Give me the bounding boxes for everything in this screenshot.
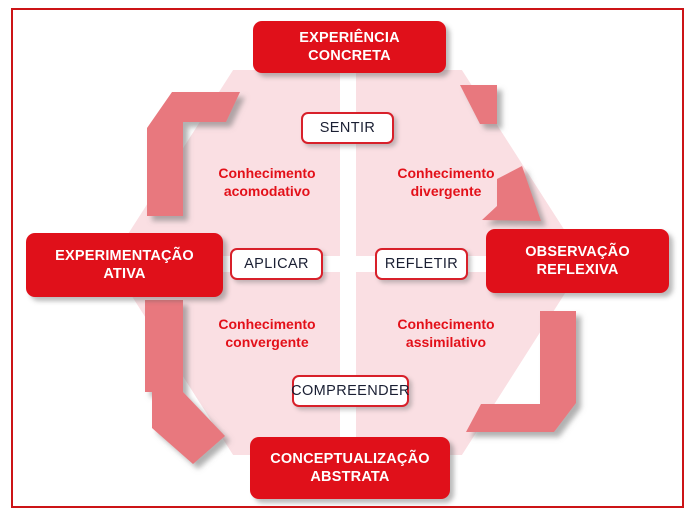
stage-box-conceptualizacao-abstrata[interactable]: CONCEPTUALIZAÇÃO ABSTRATA [250,437,450,499]
stage-label-reflective-line2: REFLEXIVA [536,262,618,278]
knowledge-assimilativo-line2: assimilativo [406,334,486,350]
verb-label-aplicar: APLICAR [244,256,309,272]
verb-chip-compreender[interactable]: COMPREENDER [292,375,409,407]
knowledge-label-acomodativo: Conhecimento acomodativo [192,164,342,200]
stage-label-active-line2: ATIVA [103,266,145,282]
stage-label-reflective: OBSERVAÇÃO REFLEXIVA [525,243,630,279]
stage-label-active-line1: EXPERIMENTAÇÃO [55,248,194,264]
stage-box-observacao-reflexiva[interactable]: OBSERVAÇÃO REFLEXIVA [486,229,669,293]
stage-label-reflective-line1: OBSERVAÇÃO [525,244,630,260]
knowledge-divergente-line1: Conhecimento [397,165,494,181]
verb-chip-aplicar[interactable]: APLICAR [230,248,323,280]
stage-label-abstract-line1: CONCEPTUALIZAÇÃO [270,451,429,467]
knowledge-convergente-line2: convergente [225,334,308,350]
verb-label-sentir: SENTIR [320,120,376,136]
verb-label-compreender: COMPREENDER [291,383,410,399]
knowledge-label-divergente: Conhecimento divergente [371,164,521,200]
stage-label-concrete: EXPERIÊNCIA CONCRETA [259,29,440,65]
verb-chip-refletir[interactable]: REFLETIR [375,248,468,280]
knowledge-label-assimilativo: Conhecimento assimilativo [371,315,521,351]
knowledge-acomodativo-line2: acomodativo [224,183,310,199]
knowledge-label-convergente: Conhecimento convergente [192,315,342,351]
knowledge-divergente-line2: divergente [411,183,482,199]
stage-label-active: EXPERIMENTAÇÃO ATIVA [55,247,194,283]
stage-box-experiencia-concreta[interactable]: EXPERIÊNCIA CONCRETA [253,21,446,73]
stage-box-experimentacao-ativa[interactable]: EXPERIMENTAÇÃO ATIVA [26,233,223,297]
knowledge-assimilativo-line1: Conhecimento [397,316,494,332]
verb-label-refletir: REFLETIR [385,256,458,272]
knowledge-acomodativo-line1: Conhecimento [218,165,315,181]
stage-label-abstract-line2: ABSTRATA [310,469,389,485]
knowledge-convergente-line1: Conhecimento [218,316,315,332]
arrow-concrete-to-reflective [460,85,541,221]
kolb-cycle-diagram: EXPERIÊNCIA CONCRETA OBSERVAÇÃO REFLEXIV… [0,0,695,521]
stage-label-abstract: CONCEPTUALIZAÇÃO ABSTRATA [270,450,429,486]
verb-chip-sentir[interactable]: SENTIR [301,112,394,144]
